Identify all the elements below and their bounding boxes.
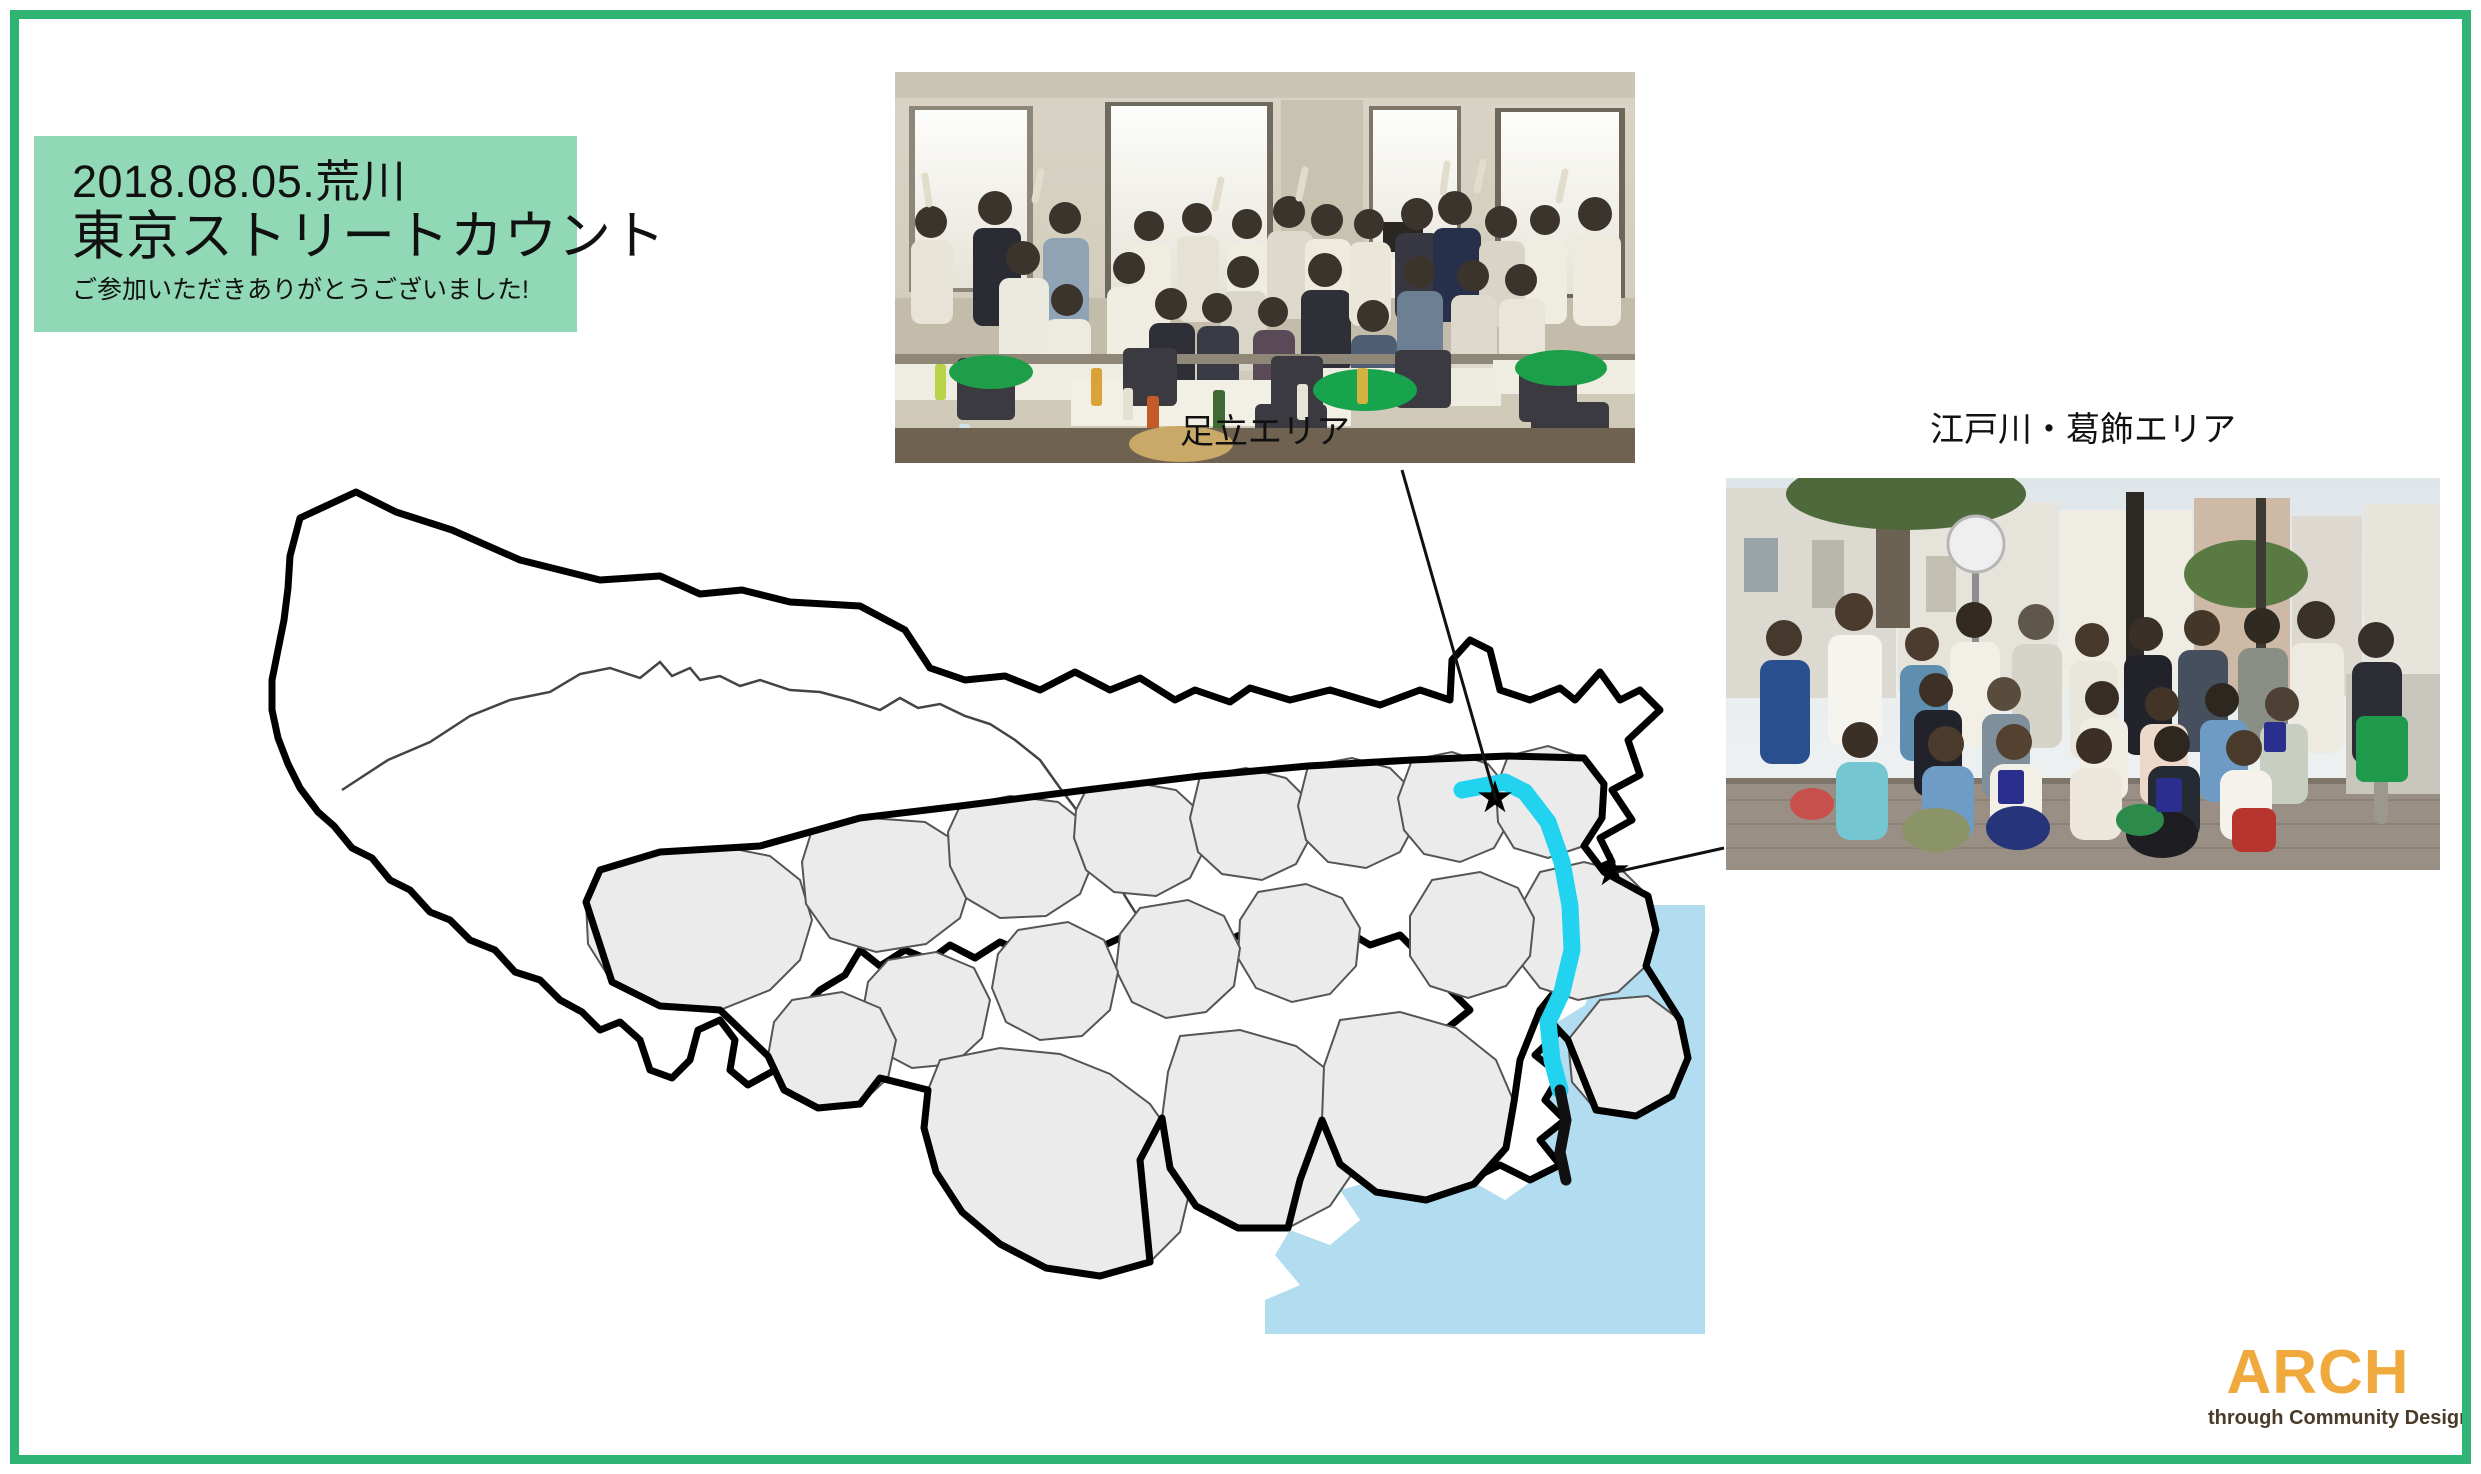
- map-marker-edogawa-katsushika: ★: [1592, 846, 1631, 895]
- arch-logo-wordmark: ARCH: [2208, 1342, 2428, 1404]
- slide-root: ★ ★ 2018.08.05.荒川 東京ストリートカウント ご参加いただきありが…: [0, 0, 2481, 1474]
- river-mouth: [1560, 1090, 1566, 1180]
- title-main: 東京ストリートカウント: [72, 207, 577, 266]
- map-marker-adachi: ★: [1475, 773, 1514, 822]
- arch-logo-tagline: through Community Design: [2208, 1408, 2428, 1428]
- title-date: 2018.08.05.荒川: [72, 158, 577, 205]
- title-subtitle: ご参加いただきありがとうございました!: [72, 275, 577, 305]
- photo-card-edogawa-katsushika: [1726, 478, 2440, 870]
- photo-caption-adachi: 足立エリア: [895, 404, 1635, 453]
- arch-logo: ARCH through Community Design: [2208, 1342, 2428, 1434]
- title-card: 2018.08.05.荒川 東京ストリートカウント ご参加いただきありがとうござ…: [34, 136, 577, 332]
- photo-edogawa-katsushika-street-group: [1726, 478, 2440, 870]
- photo-caption-edogawa-katsushika: 江戸川・葛飾エリア: [1726, 402, 2440, 451]
